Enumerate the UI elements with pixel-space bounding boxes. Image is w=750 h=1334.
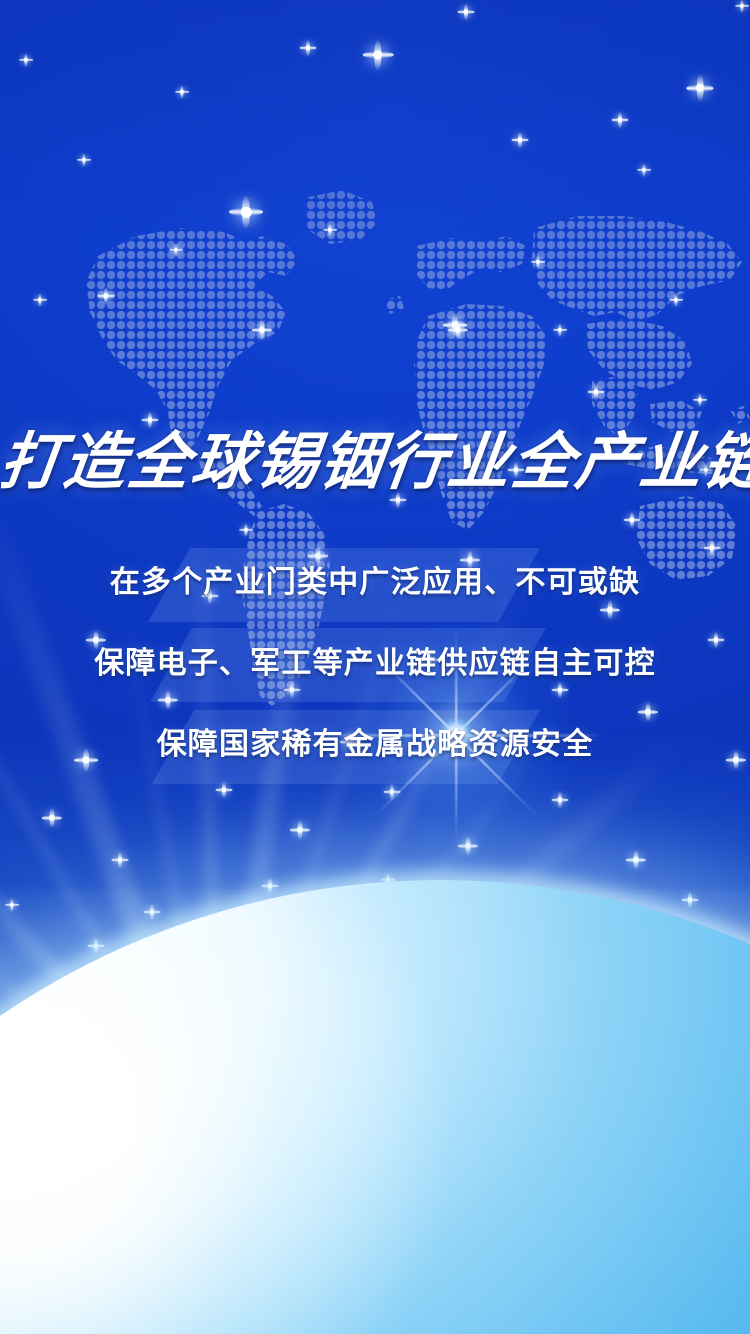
page-title: 打造全球锡铟行业全产业链链主 bbox=[0, 420, 750, 504]
subtitle-line-2: 保障电子、军工等产业链供应链自主可控 bbox=[0, 642, 750, 686]
subtitle-line-1: 在多个产业门类中广泛应用、不可或缺 bbox=[0, 561, 750, 605]
subtitle-line-3: 保障国家稀有金属战略资源安全 bbox=[0, 723, 750, 767]
poster-stage: 打造全球锡铟行业全产业链链主 在多个产业门类中广泛应用、不可或缺 保障电子、军工… bbox=[0, 0, 750, 1334]
